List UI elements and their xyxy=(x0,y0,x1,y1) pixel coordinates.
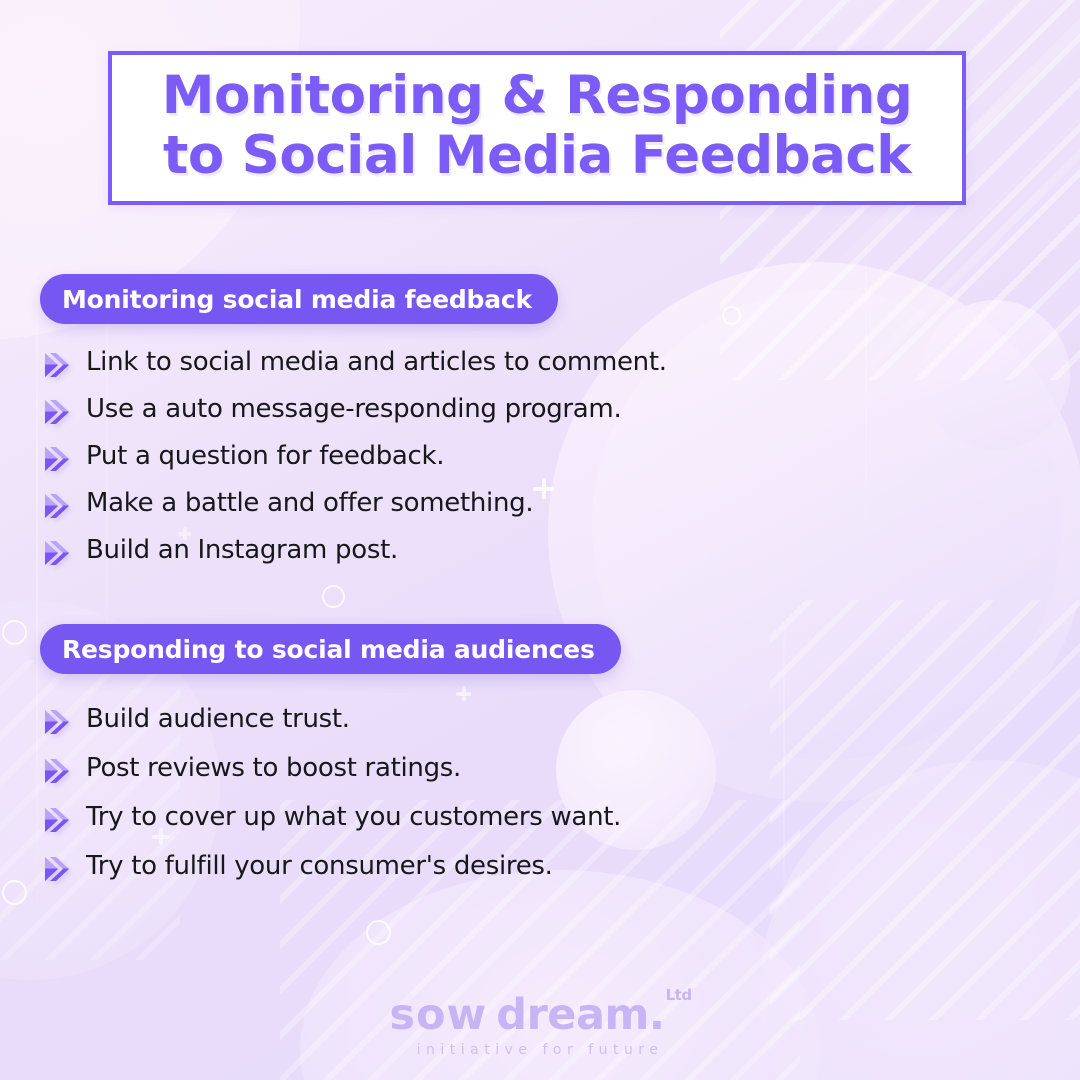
double-chevron-arrow-icon xyxy=(44,540,74,566)
decorative-circle-small-right xyxy=(920,300,1070,450)
brand-word-sow: sow xyxy=(389,990,487,1040)
list-item: Put a question for feedback. xyxy=(44,442,667,472)
decorative-ring-1 xyxy=(322,585,345,608)
list-responding: Build audience trust. Post reviews to bo… xyxy=(44,705,621,899)
decorative-vline-right-2 xyxy=(865,200,867,540)
list-item-text: Try to cover up what you customers want. xyxy=(86,803,621,832)
footer-brand-logo: sowdream.Ltd initiative for future xyxy=(0,990,1080,1058)
decorative-plus-2 xyxy=(456,686,471,701)
list-item: Link to social media and articles to com… xyxy=(44,348,667,378)
list-item: Build an Instagram post. xyxy=(44,536,667,566)
section-heading-responding: Responding to social media audiences xyxy=(40,624,621,674)
list-item-text: Use a auto message-responding program. xyxy=(86,395,621,424)
double-chevron-arrow-icon xyxy=(44,352,74,378)
decorative-ring-5 xyxy=(722,306,741,325)
brand-wordmark: sowdream.Ltd xyxy=(389,990,690,1040)
list-item-text: Link to social media and articles to com… xyxy=(86,348,667,377)
list-item: Try to fulfill your consumer's desires. xyxy=(44,852,621,882)
double-chevron-arrow-icon xyxy=(44,493,74,519)
list-item-text: Put a question for feedback. xyxy=(86,442,444,471)
decorative-blob-bottom xyxy=(300,870,820,1080)
list-item: Post reviews to boost ratings. xyxy=(44,754,621,784)
decorative-ring-2 xyxy=(2,620,27,645)
decorative-vline-left xyxy=(36,236,38,926)
list-item-text: Post reviews to boost ratings. xyxy=(86,754,461,783)
decorative-vline-right xyxy=(783,600,785,930)
list-item: Use a auto message-responding program. xyxy=(44,395,667,425)
section-heading-monitoring: Monitoring social media feedback xyxy=(40,274,558,324)
decorative-blob-bottom-right xyxy=(760,760,1080,1080)
double-chevron-arrow-icon xyxy=(44,856,74,882)
decorative-ring-4 xyxy=(366,920,391,945)
list-item-text: Build an Instagram post. xyxy=(86,536,398,565)
double-chevron-arrow-icon xyxy=(44,446,74,472)
double-chevron-arrow-icon xyxy=(44,758,74,784)
title-card-inner: Monitoring & Responding to Social Media … xyxy=(112,60,962,197)
diagonal-stripes-bottom-right xyxy=(770,600,1080,1020)
page-title: Monitoring & Responding to Social Media … xyxy=(126,66,948,187)
list-item: Build audience trust. xyxy=(44,705,621,735)
brand-word-dream: dream. xyxy=(496,990,664,1040)
list-item-text: Try to fulfill your consumer's desires. xyxy=(86,852,553,881)
double-chevron-arrow-icon xyxy=(44,399,74,425)
section-heading-monitoring-label: Monitoring social media feedback xyxy=(62,285,532,314)
double-chevron-arrow-icon xyxy=(44,807,74,833)
brand-suffix-ltd: Ltd xyxy=(666,986,692,1004)
decorative-ring-3 xyxy=(2,880,27,905)
list-item-text: Build audience trust. xyxy=(86,705,350,734)
title-card: Monitoring & Responding to Social Media … xyxy=(108,51,966,205)
list-item: Make a battle and offer something. xyxy=(44,489,667,519)
section-heading-responding-label: Responding to social media audiences xyxy=(62,635,595,664)
list-item: Try to cover up what you customers want. xyxy=(44,803,621,833)
brand-tagline: initiative for future xyxy=(0,1042,1080,1058)
double-chevron-arrow-icon xyxy=(44,709,74,735)
poster-canvas: Monitoring & Responding to Social Media … xyxy=(0,0,1080,1080)
list-item-text: Make a battle and offer something. xyxy=(86,489,533,518)
list-monitoring: Link to social media and articles to com… xyxy=(44,348,667,583)
